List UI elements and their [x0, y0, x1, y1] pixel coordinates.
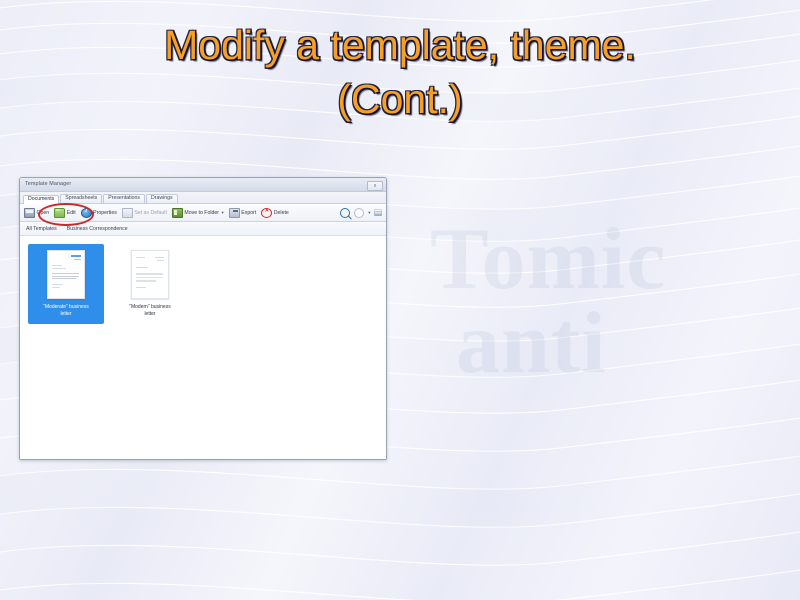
window-title: Template Manager [25, 181, 71, 187]
set-as-default-button[interactable]: Set as Default [122, 208, 167, 218]
export-label: Export [241, 210, 256, 216]
export-icon [229, 208, 240, 218]
template-card-modern[interactable]: “Modern” business letter [112, 244, 188, 324]
properties-label: Properties [93, 210, 117, 216]
window-titlebar[interactable]: Template Manager x [20, 178, 386, 192]
chevron-down-icon[interactable]: ▾ [222, 210, 224, 216]
page-title: Modify a template, theme. (Cont.) [0, 18, 800, 126]
template-thumbnail [47, 250, 85, 299]
info-icon [81, 208, 92, 218]
background-watermark: Tomic anti [430, 218, 800, 385]
delete-circle-icon [261, 208, 272, 218]
set-as-default-label: Set as Default [134, 210, 167, 216]
tab-presentations[interactable]: Presentations [103, 194, 145, 203]
toolbar: Open Edit Properties Set as Default Move… [20, 204, 386, 222]
document-check-icon [122, 208, 133, 218]
move-to-folder-button[interactable]: Move to Folder ▾ [172, 208, 224, 218]
template-manager-window[interactable]: Template Manager x Documents Spreadsheet… [19, 177, 387, 460]
repository-circle-icon[interactable] [354, 208, 364, 218]
view-grid-icon[interactable] [374, 209, 382, 216]
breadcrumb-business-correspondence[interactable]: Business Correspondence [67, 226, 128, 232]
watermark-line-2: anti [430, 302, 800, 386]
watermark-line-1: Tomic [430, 211, 666, 308]
search-icon[interactable] [340, 208, 350, 218]
template-thumbnail [131, 250, 169, 299]
properties-button[interactable]: Properties [81, 208, 117, 218]
template-label: “Moderate” business letter [31, 304, 101, 319]
open-button[interactable]: Open [24, 208, 49, 218]
tab-drawings[interactable]: Drawings [146, 194, 178, 203]
open-label: Open [37, 210, 50, 216]
move-to-folder-label: Move to Folder [184, 210, 219, 216]
tabstrip: Documents Spreadsheets Presentations Dra… [20, 192, 386, 204]
breadcrumb: All Templates Business Correspondence [20, 222, 386, 236]
tab-documents[interactable]: Documents [23, 195, 59, 204]
green-folder-icon [54, 208, 65, 218]
template-card-moderate[interactable]: “Moderate” business letter [28, 244, 104, 324]
monitor-icon [24, 208, 35, 218]
slide-canvas: Tomic anti Modify a template, theme. (Co… [0, 0, 800, 600]
delete-button[interactable]: Delete [261, 208, 289, 218]
edit-button[interactable]: Edit [54, 208, 75, 218]
tab-spreadsheets[interactable]: Spreadsheets [60, 194, 102, 203]
export-button[interactable]: Export [229, 208, 257, 218]
template-label: “Modern” business letter [115, 304, 185, 319]
delete-label: Delete [274, 210, 289, 216]
close-icon[interactable]: x [367, 181, 383, 191]
toolbar-right-group: ▾ [340, 204, 382, 221]
edit-label: Edit [67, 210, 76, 216]
move-folder-icon [172, 208, 183, 218]
repository-chevron-down-icon[interactable]: ▾ [368, 210, 370, 216]
template-grid: “Moderate” business letter “Modern” busi… [20, 236, 386, 460]
breadcrumb-all-templates[interactable]: All Templates [26, 226, 57, 232]
